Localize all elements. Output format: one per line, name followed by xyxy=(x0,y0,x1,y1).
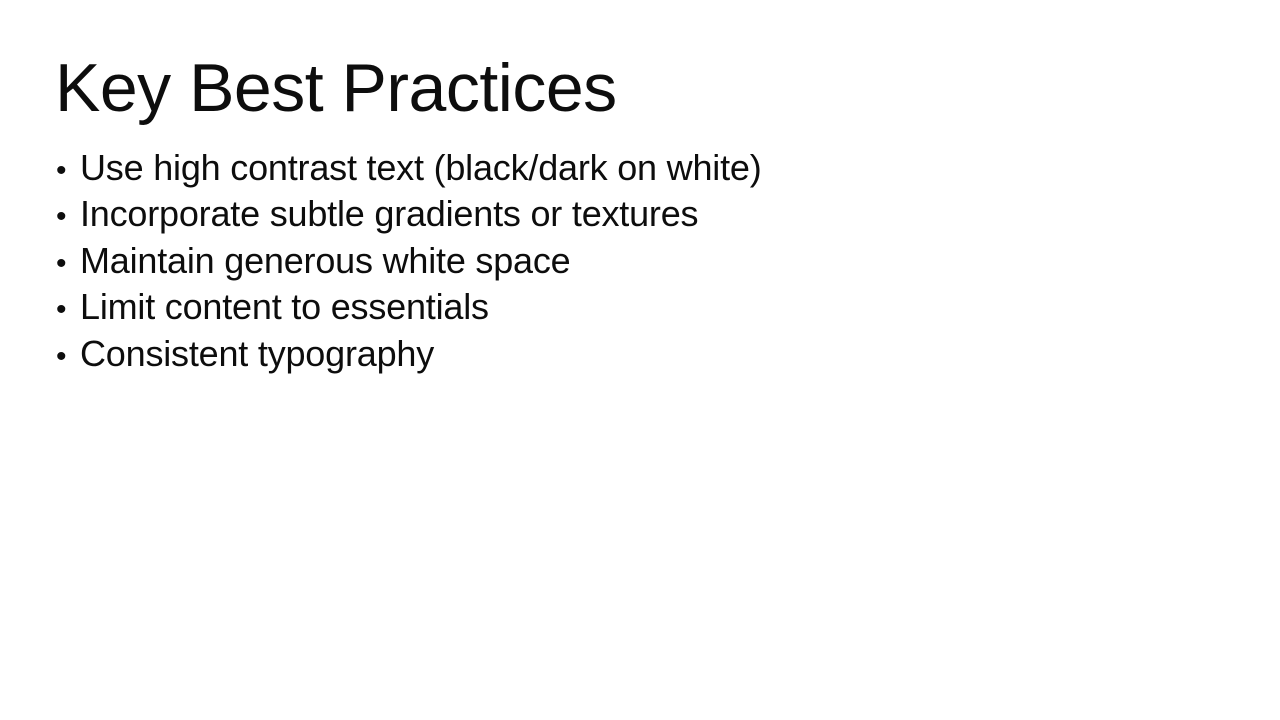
list-item: • Use high contrast text (black/dark on … xyxy=(56,145,762,191)
list-item: • Incorporate subtle gradients or textur… xyxy=(56,191,762,237)
list-item-label: Consistent typography xyxy=(80,331,434,377)
bullet-list: • Use high contrast text (black/dark on … xyxy=(56,145,762,377)
bullet-point-icon: • xyxy=(56,287,80,333)
bullet-point-icon: • xyxy=(56,148,80,194)
list-item: • Consistent typography xyxy=(56,331,762,377)
list-item-label: Maintain generous white space xyxy=(80,238,571,284)
list-item-label: Incorporate subtle gradients or textures xyxy=(80,191,698,237)
list-item-label: Use high contrast text (black/dark on wh… xyxy=(80,145,762,191)
list-item-label: Limit content to essentials xyxy=(80,284,489,330)
page-title: Key Best Practices xyxy=(55,48,617,128)
list-item: • Maintain generous white space xyxy=(56,238,762,284)
list-item: • Limit content to essentials xyxy=(56,284,762,330)
presentation-slide: Key Best Practices • Use high contrast t… xyxy=(0,0,1280,720)
bullet-point-icon: • xyxy=(56,241,80,287)
bullet-point-icon: • xyxy=(56,194,80,240)
bullet-point-icon: • xyxy=(56,334,80,380)
